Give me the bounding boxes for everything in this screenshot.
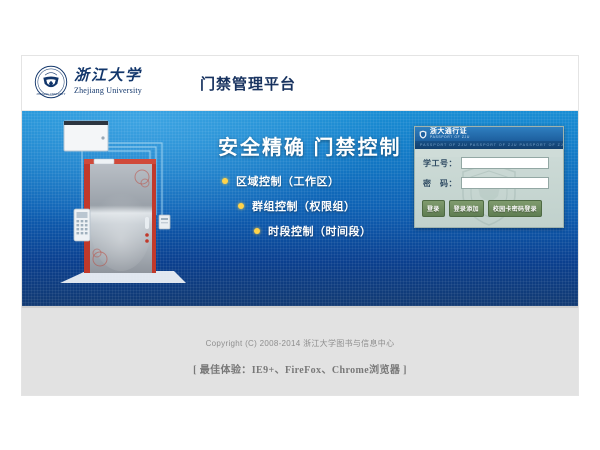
page-title: 门禁管理平台 bbox=[200, 73, 296, 94]
login-button[interactable]: 登录 bbox=[422, 200, 445, 217]
page-root: ZHEJIANG UNIVERSITY 浙江大学 Zhejiang Univer… bbox=[0, 0, 600, 450]
password-label: 密 码： bbox=[423, 178, 461, 189]
login-panel: 浙大通行证 PASSPORT OF ZJU PASSPORT OF ZJU PA… bbox=[414, 126, 564, 228]
site-header: ZHEJIANG UNIVERSITY 浙江大学 Zhejiang Univer… bbox=[22, 56, 578, 111]
brand-name-en: Zhejiang University bbox=[74, 87, 142, 95]
feature-item-group-control: 群组控制（权限组） bbox=[222, 198, 372, 214]
university-logo[interactable]: ZHEJIANG UNIVERSITY 浙江大学 Zhejiang Univer… bbox=[34, 65, 142, 99]
bullet-dot-icon bbox=[238, 203, 244, 209]
shield-icon bbox=[419, 130, 427, 139]
campus-card-login-button[interactable]: 校园卡密码登录 bbox=[488, 200, 542, 217]
bullet-dot-icon bbox=[222, 178, 228, 184]
login-add-button[interactable]: 登录添加 bbox=[449, 200, 484, 217]
banner-headline: 安全精确 门禁控制 bbox=[218, 131, 402, 160]
door-access-control-illustration bbox=[46, 117, 196, 297]
student-staff-id-row: 学工号： bbox=[423, 157, 563, 169]
login-panel-subtitle: PASSPORT OF ZJU bbox=[430, 136, 470, 139]
site-footer: Copyright (C) 2008-2014 浙江大学图书与信息中心 [ 最佳… bbox=[22, 306, 578, 395]
login-panel-strip: PASSPORT OF ZJU PASSPORT OF ZJU PASSPORT… bbox=[415, 141, 563, 149]
feature-item-time-control: 时段控制（时间段） bbox=[222, 223, 372, 239]
shield-watermark-icon bbox=[460, 161, 518, 227]
feature-label: 时段控制（时间段） bbox=[268, 223, 372, 239]
login-form: 学工号： 密 码： 登录 登录添加 校园卡密码登录 bbox=[415, 157, 563, 228]
brand-name-cn: 浙江大学 bbox=[74, 69, 142, 84]
login-panel-title-group: 浙大通行证 PASSPORT OF ZJU bbox=[430, 128, 470, 139]
bullet-dot-icon bbox=[254, 228, 260, 234]
feature-label: 群组控制（权限组） bbox=[252, 198, 356, 214]
brand-text: 浙江大学 Zhejiang University bbox=[74, 69, 142, 95]
password-row: 密 码： bbox=[423, 177, 563, 189]
login-panel-title: 浙大通行证 bbox=[430, 128, 470, 135]
copyright-text: Copyright (C) 2008-2014 浙江大学图书与信息中心 bbox=[22, 338, 578, 349]
app-window: ZHEJIANG UNIVERSITY 浙江大学 Zhejiang Univer… bbox=[22, 56, 578, 395]
hero-banner: 安全精确 门禁控制 区域控制（工作区） 群组控制（权限组） 时段控制（时间段） bbox=[22, 111, 578, 306]
strip-repeat-text: PASSPORT OF ZJU PASSPORT OF ZJU PASSPORT… bbox=[415, 143, 563, 147]
login-button-row: 登录 登录添加 校园卡密码登录 bbox=[422, 200, 563, 217]
password-field[interactable] bbox=[461, 177, 549, 189]
student-staff-id-label: 学工号： bbox=[423, 158, 461, 169]
feature-item-area-control: 区域控制（工作区） bbox=[222, 173, 372, 189]
browser-compatibility-note: [ 最佳体验：IE9+、FireFox、Chrome浏览器 ] bbox=[22, 361, 578, 376]
login-panel-header: 浙大通行证 PASSPORT OF ZJU bbox=[415, 127, 563, 141]
svg-text:ZHEJIANG UNIVERSITY: ZHEJIANG UNIVERSITY bbox=[36, 93, 65, 96]
banner-feature-list: 区域控制（工作区） 群组控制（权限组） 时段控制（时间段） bbox=[222, 173, 372, 248]
zju-seal-icon: ZHEJIANG UNIVERSITY bbox=[34, 65, 68, 99]
student-staff-id-field[interactable] bbox=[461, 157, 549, 169]
feature-label: 区域控制（工作区） bbox=[236, 173, 340, 189]
